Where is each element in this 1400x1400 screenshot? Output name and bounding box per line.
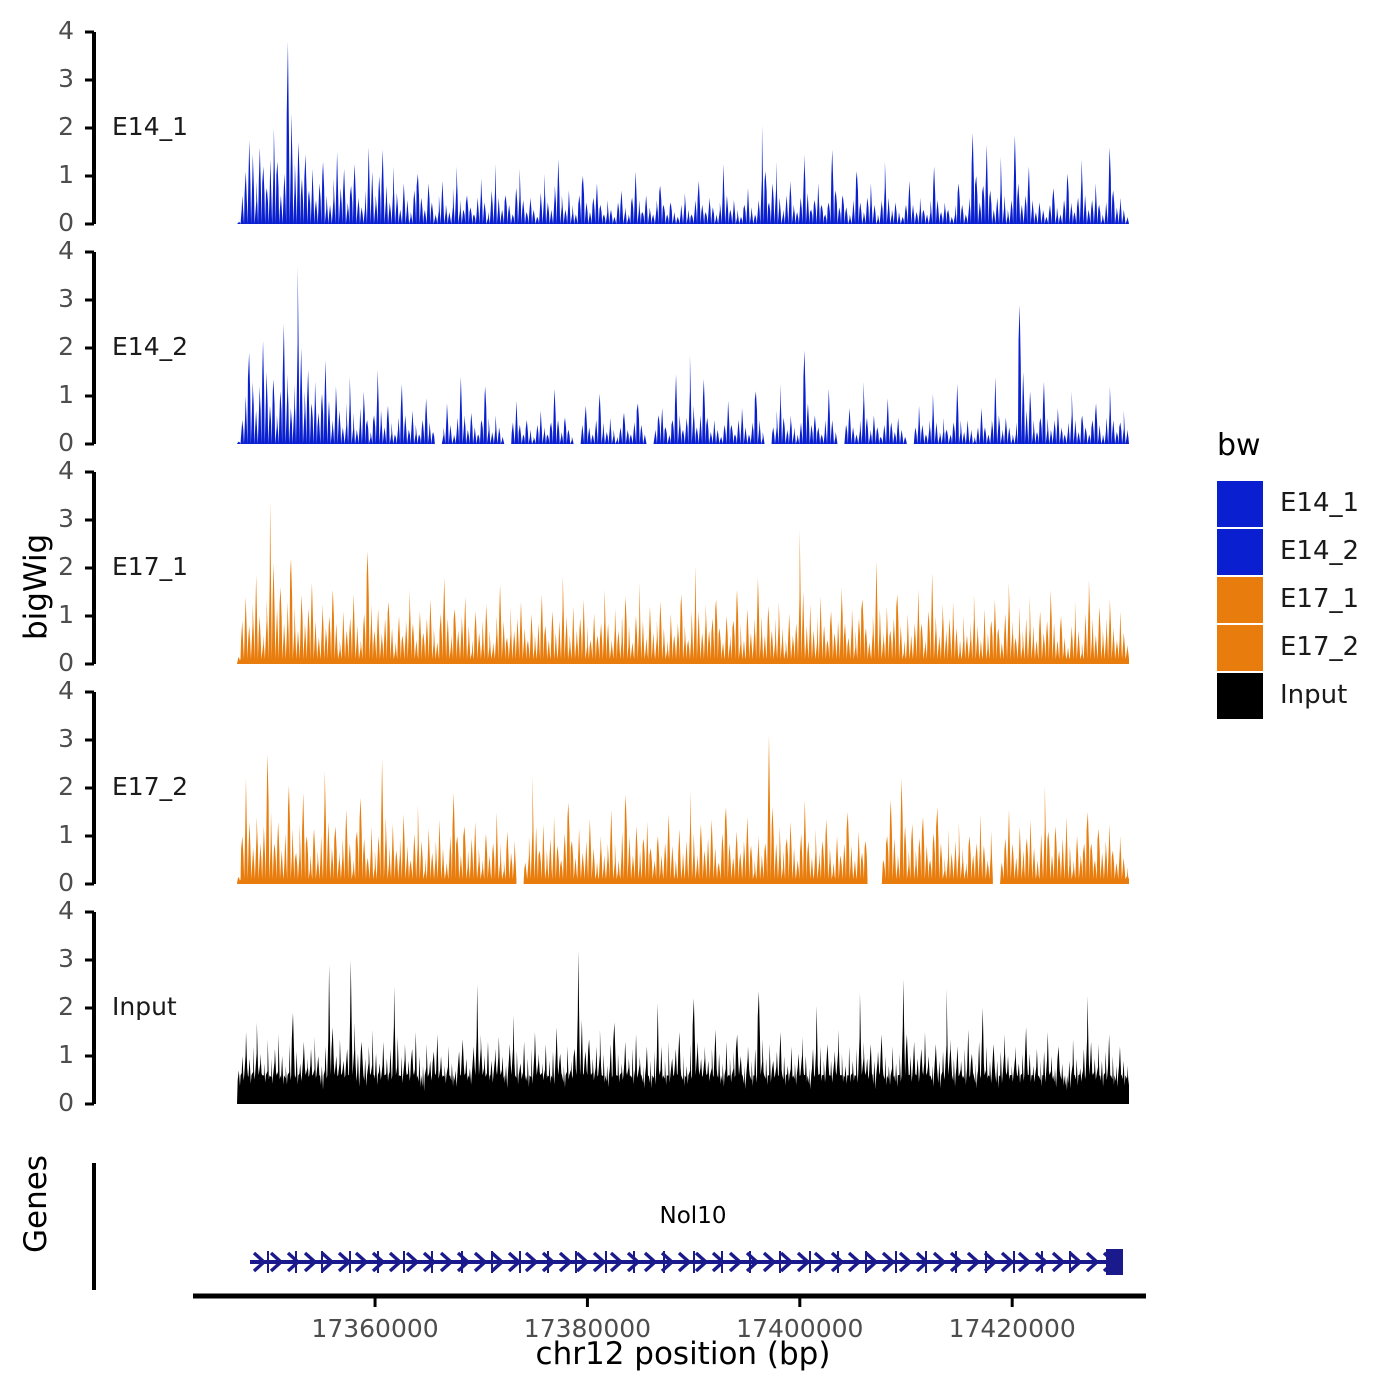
- y-axis-tick-label: 2: [44, 772, 74, 801]
- y-axis-tick-label: 4: [44, 236, 74, 265]
- y-axis-tick-label: 0: [44, 648, 74, 677]
- y-axis-tick-label: 4: [44, 16, 74, 45]
- y-axis-tick-label: 2: [44, 992, 74, 1021]
- gene-terminal-exon-block: [1106, 1249, 1123, 1275]
- genome-browser-figure: bigWig Genes chr12 position (bp) 01234E1…: [0, 0, 1400, 1400]
- signal-track-input: [237, 950, 1129, 1104]
- y-axis-tick-label: 2: [44, 552, 74, 581]
- y-axis-tick-label: 0: [44, 1088, 74, 1117]
- legend-label-input: Input: [1280, 680, 1347, 710]
- track-label-e14_1: E14_1: [112, 112, 188, 141]
- y-axis-tick-label: 2: [44, 332, 74, 361]
- track-label-e17_1: E17_1: [112, 552, 188, 581]
- x-axis-tick-label: 17420000: [912, 1314, 1112, 1343]
- legend-key-e17_2[interactable]: [1217, 625, 1263, 671]
- track-label-input: Input: [112, 992, 177, 1021]
- y-axis-tick-label: 4: [44, 456, 74, 485]
- y-axis-tick-label: 2: [44, 112, 74, 141]
- legend-label-e14_2: E14_2: [1280, 536, 1359, 566]
- y-axis-tick-label: 1: [44, 1040, 74, 1069]
- x-axis-tick-label: 17400000: [700, 1314, 900, 1343]
- legend-label-e14_1: E14_1: [1280, 488, 1359, 518]
- y-axis-tick-label: 1: [44, 820, 74, 849]
- signal-track-e17_2: [237, 735, 1129, 884]
- y-axis-tick-label: 3: [44, 284, 74, 313]
- figure-canvas: [0, 0, 1400, 1400]
- track-label-e17_2: E17_2: [112, 772, 188, 801]
- y-axis-tick-label: 1: [44, 380, 74, 409]
- x-axis-tick-label: 17360000: [275, 1314, 475, 1343]
- legend-label-e17_1: E17_1: [1280, 584, 1359, 614]
- y-axis-tick-label: 3: [44, 944, 74, 973]
- y-axis-tick-label: 4: [44, 896, 74, 925]
- legend-key-e14_1[interactable]: [1217, 481, 1263, 527]
- track-label-e14_2: E14_2: [112, 332, 188, 361]
- y-axis-tick-label: 3: [44, 64, 74, 93]
- y-axis-tick-label: 1: [44, 160, 74, 189]
- y-axis-tick-label: 0: [44, 428, 74, 457]
- gene-name-label: Nol10: [593, 1203, 793, 1229]
- legend-title: bw: [1217, 428, 1261, 463]
- legend-key-e14_2[interactable]: [1217, 529, 1263, 575]
- x-axis-tick-label: 17380000: [487, 1314, 687, 1343]
- signal-track-e17_1: [237, 501, 1129, 664]
- signal-track-e14_1: [237, 42, 1129, 224]
- y-axis-tick-label: 3: [44, 504, 74, 533]
- y-axis-tick-label: 1: [44, 600, 74, 629]
- y-axis-tick-label: 4: [44, 676, 74, 705]
- legend-key-input[interactable]: [1217, 673, 1263, 719]
- signal-track-e14_2: [237, 266, 1129, 444]
- legend-key-e17_1[interactable]: [1217, 577, 1263, 623]
- y-axis-tick-label: 0: [44, 868, 74, 897]
- y-axis-tick-label: 3: [44, 724, 74, 753]
- genes-axis-title: Genes: [18, 1155, 54, 1253]
- legend-label-e17_2: E17_2: [1280, 632, 1359, 662]
- y-axis-tick-label: 0: [44, 208, 74, 237]
